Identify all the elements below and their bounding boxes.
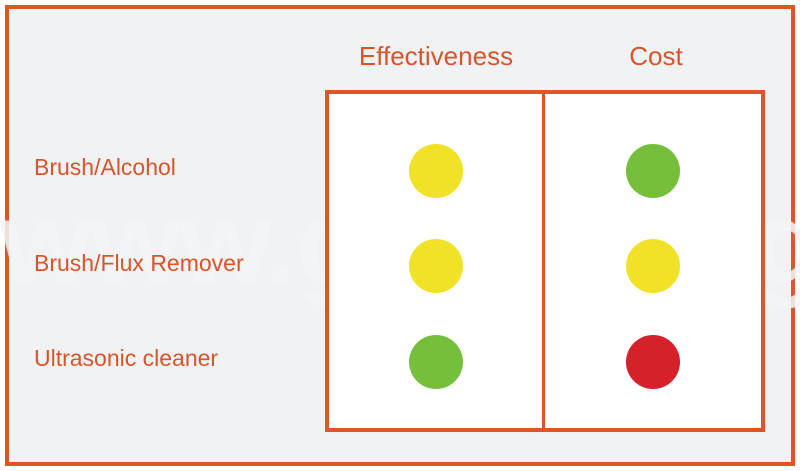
row-label-ultrasonic-cleaner: Ultrasonic cleaner: [34, 343, 314, 373]
comparison-matrix-page: www.greattong.com Effectiveness Cost Bru…: [0, 0, 800, 471]
rating-matrix: [325, 90, 765, 432]
matrix-column-cost: [545, 94, 761, 428]
row-label-brush-flux-remover: Brush/Flux Remover: [34, 248, 314, 278]
rating-dot: [626, 239, 680, 293]
column-header-effectiveness: Effectiveness: [325, 38, 547, 74]
row-label-brush-alcohol: Brush/Alcohol: [34, 152, 314, 182]
rating-dot: [409, 335, 463, 389]
rating-dot: [409, 239, 463, 293]
rating-dot: [409, 144, 463, 198]
rating-dot: [626, 144, 680, 198]
column-header-cost: Cost: [547, 38, 765, 74]
matrix-column-effectiveness: [329, 94, 545, 428]
rating-dot: [626, 335, 680, 389]
